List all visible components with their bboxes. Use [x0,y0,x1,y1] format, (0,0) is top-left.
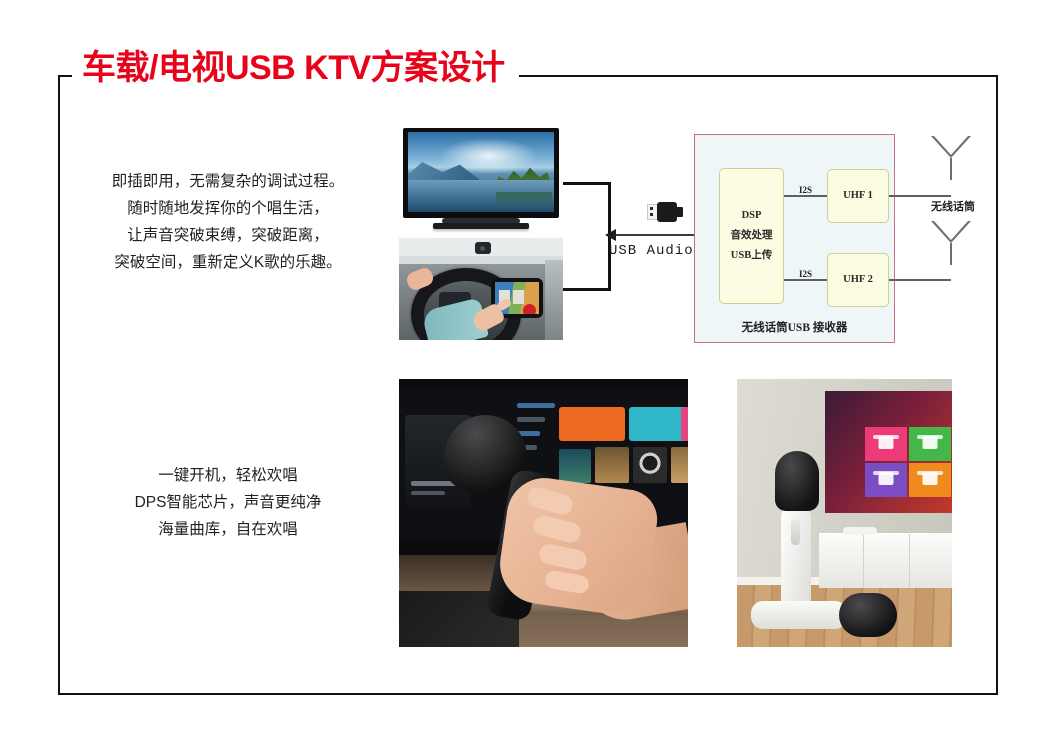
uhf2-to-antenna-line [889,279,951,281]
tv-wallpaper-reflection [496,192,552,208]
display-tile-pink [681,407,688,441]
antenna-icon-2 [931,221,971,265]
page-title-text: 车载/电视USB KTV方案设计 [82,51,505,85]
page-title: 车载/电视USB KTV方案设计 [72,42,519,94]
display-thumbnail [633,447,667,483]
cabinet-door-seam [863,534,864,588]
tv-bezel [403,128,559,218]
display-thumbnail [559,449,591,483]
paragraph-line: 一键开机，轻松欢唱 [78,462,378,489]
dsp-block-line: USB上传 [731,246,772,266]
flat-screen-tv-photo [399,126,563,238]
user-hand-gripping-mic [495,473,661,619]
display-thumbnail [671,447,688,483]
usb-plug-icon [645,201,683,223]
car-dashcam [475,242,491,254]
dashcam-lens-icon [480,246,485,251]
antenna-triangle [931,221,971,243]
antenna-triangle [931,136,971,158]
wireless-microphones-living-room-photo [737,379,952,647]
uhf2-block: UHF 2 [827,253,889,307]
tv-screen [408,132,554,212]
feature-paragraph-top: 即插即用，无需复杂的调试过程。 随时随地发挥你的个唱生活， 让声音突破束缚，突破… [78,168,378,276]
microphone-buttons [791,519,800,545]
antenna-stem [950,243,952,265]
paragraph-line: 让声音突破束缚，突破距离， [78,222,378,249]
car-connector-line [563,288,611,291]
standing-microphone-foam-head [775,451,819,511]
paragraph-line: 海量曲库，自在欢唱 [78,516,378,543]
car-screen-badge [523,304,536,314]
paragraph-line: DPS智能芯片，声音更纯净 [78,489,378,516]
cabinet-top-object [843,527,877,535]
tv-app-grid [865,427,951,497]
dsp-block-line: DSP [742,206,762,226]
tv-app-label [873,471,899,475]
tv-app-tile [865,427,907,461]
usb-audio-line [608,234,695,236]
antenna-triangle-inner [934,136,968,155]
paragraph-line: 随时随地发挥你的个唱生活， [78,195,378,222]
display-tile-orange [559,407,625,441]
handheld-microphone-in-car-photo [399,379,688,647]
paragraph-line: 突破空间，重新定义K歌的乐趣。 [78,249,378,276]
display-text-line [411,491,445,495]
dsp-to-uhf1-line [784,195,827,197]
receiver-block-diagram: DSP 音效处理 USB上传 UHF 1 UHF 2 I2S I2S 无线话筒U… [694,134,895,343]
antenna-triangle-inner [934,221,968,240]
uhf2-label: UHF 2 [843,270,873,290]
i2s-label-2: I2S [797,269,814,279]
uhf1-block: UHF 1 [827,169,889,223]
antenna-icon-1 [931,136,971,180]
usb-plug-shell [657,202,677,222]
usb-plug-cable [676,207,683,217]
car-screen-tile [513,290,524,304]
tv-app-label [917,471,943,475]
tv-app-tile [909,427,951,461]
display-tile-cyan [629,407,688,441]
uhf1-label: UHF 1 [843,186,873,206]
tv-connector-line [563,182,611,185]
car-door-pillar [545,260,563,340]
diagram-caption: 无线话筒USB 接收器 [695,319,894,335]
usb-plug-dot [650,213,653,216]
usb-plug-dot [650,207,653,210]
paragraph-line: 即插即用，无需复杂的调试过程。 [78,168,378,195]
uhf1-to-antenna-line [889,195,951,197]
tv-app-tile [909,463,951,497]
cabinet-door-seam [909,534,910,588]
dsp-block: DSP 音效处理 USB上传 [719,168,784,304]
car-dashboard-touchscreen-photo [399,238,563,340]
lying-microphone-body [751,601,847,629]
usb-audio-arrow-icon [605,229,616,241]
i2s-label-1: I2S [797,185,814,195]
dsp-to-uhf2-line [784,279,827,281]
dsp-block-line: 音效处理 [731,226,773,246]
wall-mounted-tv [825,391,952,513]
feature-paragraph-bottom: 一键开机，轻松欢唱 DPS智能芯片，声音更纯净 海量曲库，自在欢唱 [78,462,378,543]
tv-app-tile [865,463,907,497]
wireless-microphone-label: 无线话筒 [921,198,985,214]
lying-microphone-foam-head [839,593,897,637]
tv-app-label [873,435,899,439]
tv-cabinet [819,533,952,588]
antenna-stem [950,158,952,180]
tv-stand-base [433,223,529,229]
display-thumbnail [595,447,629,483]
tv-wallpaper-mountain [408,158,480,180]
tv-app-label [917,435,943,439]
